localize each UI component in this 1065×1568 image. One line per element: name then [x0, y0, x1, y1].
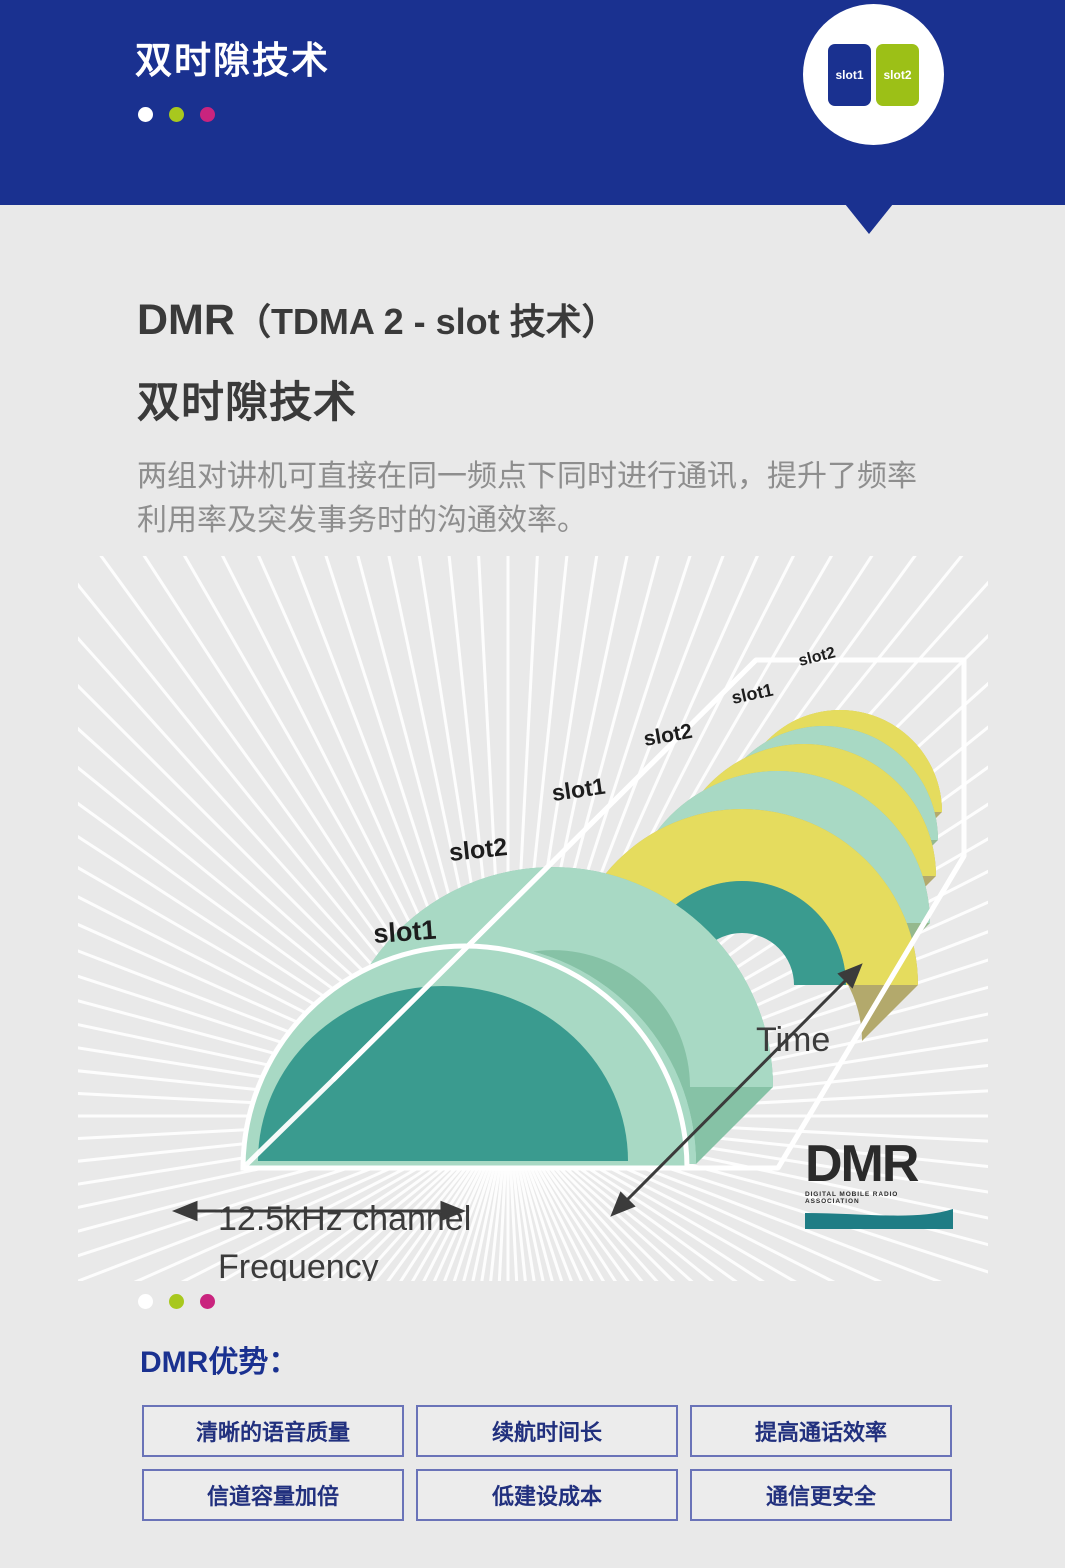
slot-logo-badge: slot1 slot2	[803, 4, 944, 145]
dmr-association-logo: DMR DIGITAL MOBILE RADIO ASSOCIATION	[805, 1140, 955, 1240]
frequency-axis-label: Frequency	[218, 1248, 379, 1281]
slot1-chip-icon: slot1	[828, 44, 871, 106]
header-bar: 双时隙技术 slot1 slot2	[0, 0, 1065, 205]
title-latin: DMR	[137, 296, 235, 344]
dot-green[interactable]	[169, 1294, 184, 1309]
carousel-dots-top[interactable]	[138, 107, 215, 122]
slot2-chip-icon: slot2	[876, 44, 919, 106]
advantage-button-3[interactable]: 提高通话效率	[690, 1405, 952, 1457]
title-paren: （TDMA 2 - slot 技术）	[235, 301, 618, 342]
dmr-logo-text: DMR	[805, 1140, 955, 1189]
advantage-button-6[interactable]: 通信更安全	[690, 1469, 952, 1521]
header-pointer-triangle	[845, 204, 893, 234]
advantages-button-grid: 清晰的语音质量 续航时间长 提高通话效率 信道容量加倍 低建设成本 通信更安全	[142, 1405, 962, 1521]
dot-white[interactable]	[138, 107, 153, 122]
dot-green[interactable]	[169, 107, 184, 122]
dmr-logo-subtitle: DIGITAL MOBILE RADIO ASSOCIATION	[805, 1191, 955, 1205]
slot-label-1: slot1	[372, 915, 437, 949]
dot-magenta[interactable]	[200, 1294, 215, 1309]
dot-white[interactable]	[138, 1294, 153, 1309]
dot-magenta[interactable]	[200, 107, 215, 122]
carousel-dots-bottom[interactable]	[138, 1294, 215, 1309]
time-axis-label: Time	[756, 1021, 830, 1059]
advantage-button-1[interactable]: 清晰的语音质量	[142, 1405, 404, 1457]
dmr-logo-swoosh-icon	[805, 1207, 955, 1233]
header-title: 双时隙技术	[135, 30, 330, 84]
page-title-line2: 双时隙技术	[137, 368, 357, 430]
channel-label: 12.5kHz channel	[218, 1200, 471, 1239]
advantages-title: DMR优势：	[140, 1337, 298, 1381]
advantage-button-4[interactable]: 信道容量加倍	[142, 1469, 404, 1521]
description-text: 两组对讲机可直接在同一频点下同时进行通讯，提升了频率利用率及突发事务时的沟通效率…	[137, 455, 927, 544]
page-root: 双时隙技术 slot1 slot2 DMR（TDMA 2 - slot 技术） …	[0, 0, 1065, 1568]
advantage-button-2[interactable]: 续航时间长	[416, 1405, 678, 1457]
page-title-line1: DMR（TDMA 2 - slot 技术）	[137, 293, 618, 345]
advantage-button-5[interactable]: 低建设成本	[416, 1469, 678, 1521]
